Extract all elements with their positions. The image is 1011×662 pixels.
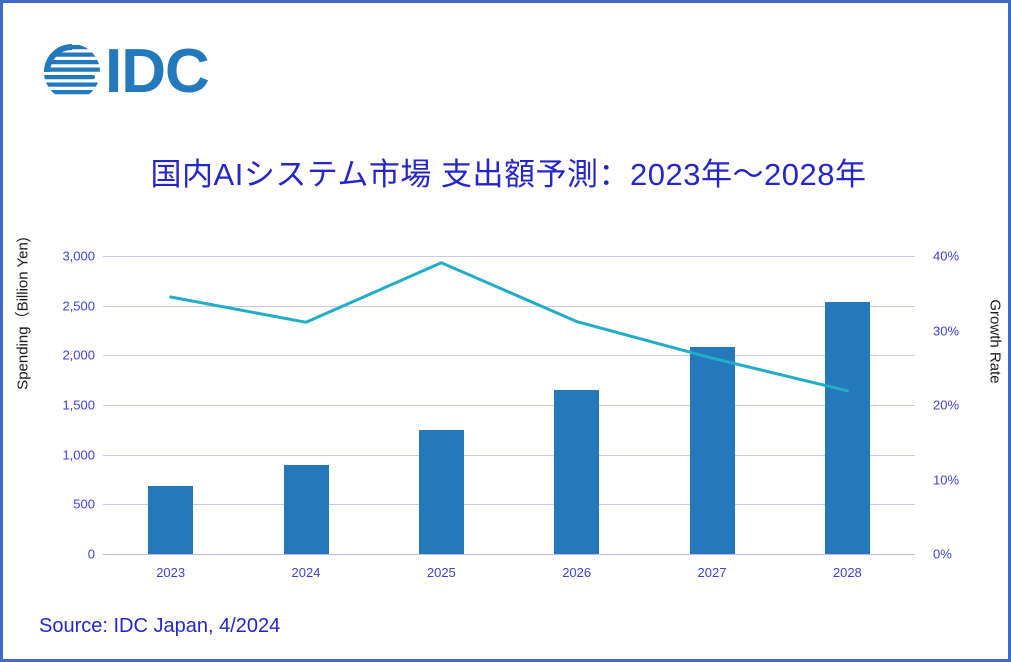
x-axis-tick-label-2023: 2023 — [131, 565, 211, 580]
y-axis-right-tick-label: 10% — [933, 472, 959, 487]
x-axis-tick-label-2027: 2027 — [672, 565, 752, 580]
chart-title: 国内AIシステム市場 支出額予測：2023年〜2028年 — [3, 149, 1011, 194]
y-axis-right-tick-label: 30% — [933, 323, 959, 338]
x-axis-tick-label-2024: 2024 — [266, 565, 346, 580]
idc-wordmark: IDC — [105, 41, 209, 103]
y-axis-right-tick-label: 40% — [933, 249, 959, 264]
y-axis-right-ticks: 0%10%20%30%40% — [933, 256, 993, 554]
source-note: Source: IDC Japan, 4/2024 — [39, 615, 280, 638]
x-axis-tick-label-2028: 2028 — [807, 565, 887, 580]
x-axis-tick-label-2026: 2026 — [537, 565, 617, 580]
x-axis-ticks: 202320242025202620272028 — [103, 565, 915, 585]
y-axis-right-tick-label: 20% — [933, 398, 959, 413]
y-axis-left-ticks: 05001,0001,5002,0002,5003,000 — [23, 256, 95, 554]
idc-globe-logo-icon — [41, 41, 103, 103]
y-axis-right-tick-label: 0% — [933, 547, 952, 562]
chart-page: IDC 国内AIシステム市場 支出額予測：2023年〜2028年 Spendin… — [0, 0, 1011, 662]
x-axis-tick-label-2025: 2025 — [401, 565, 481, 580]
idc-logo: IDC — [41, 36, 251, 108]
plot-area — [103, 256, 915, 554]
gridline — [103, 554, 915, 555]
growth-rate-line-series — [91, 256, 927, 554]
